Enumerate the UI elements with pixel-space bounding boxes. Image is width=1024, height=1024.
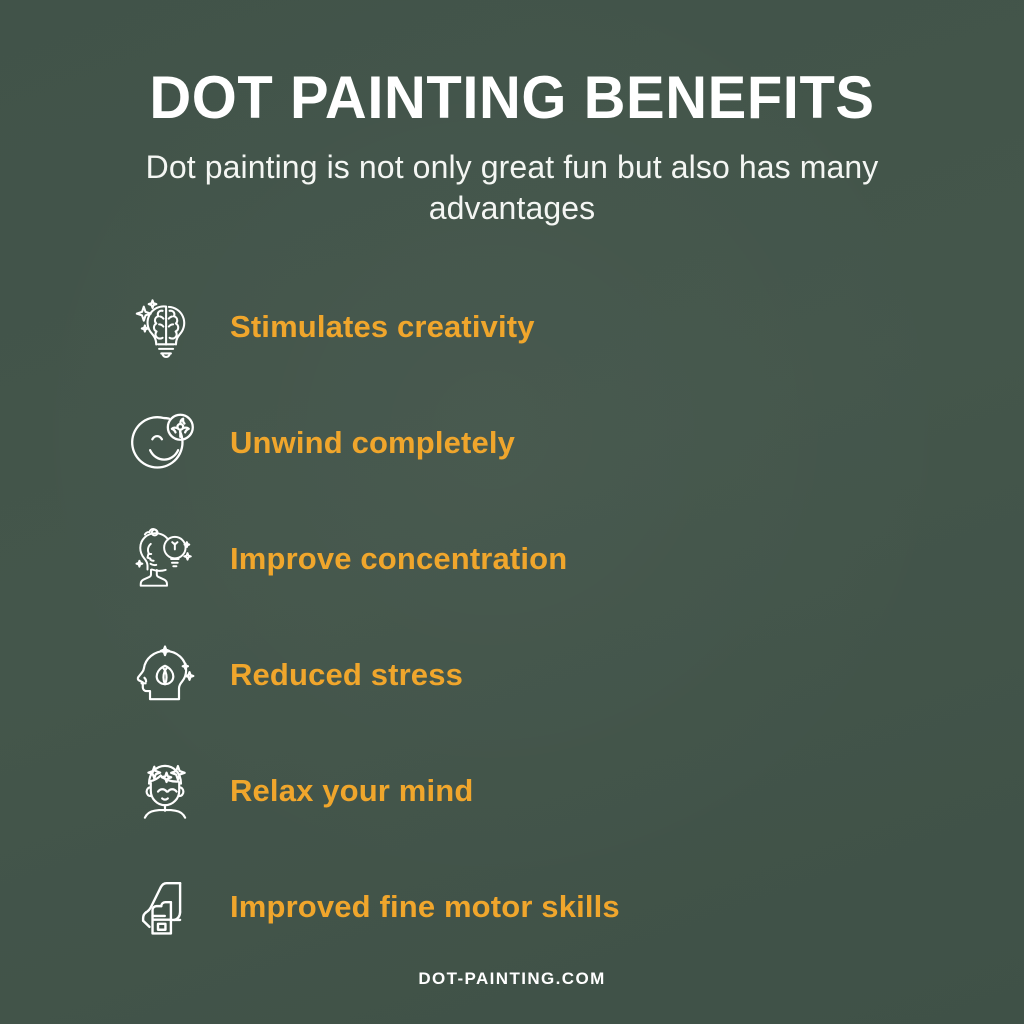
smiling-face-flower-icon <box>128 406 202 480</box>
benefit-label: Stimulates creativity <box>230 309 535 345</box>
list-item: Stimulates creativity <box>128 269 1024 385</box>
benefits-list: Stimulates creativity Unwind completely <box>0 269 1024 965</box>
benefit-label: Improve concentration <box>230 541 567 577</box>
benefit-label: Improved fine motor skills <box>230 889 620 925</box>
poster-canvas: DOT PAINTING BENEFITS Dot painting is no… <box>0 0 1024 1024</box>
list-item: Relax your mind <box>128 733 1024 849</box>
hand-holding-tool-icon <box>128 870 202 944</box>
brain-lightbulb-icon <box>128 290 202 364</box>
poster-header: DOT PAINTING BENEFITS Dot painting is no… <box>0 0 1024 229</box>
list-item: Improve concentration <box>128 501 1024 617</box>
list-item: Unwind completely <box>128 385 1024 501</box>
website-url: DOT-PAINTING.COM <box>418 969 605 988</box>
benefit-label: Reduced stress <box>230 657 463 693</box>
page-subtitle: Dot painting is not only great fun but a… <box>142 147 882 229</box>
list-item: Improved fine motor skills <box>128 849 1024 965</box>
head-lotus-icon <box>128 638 202 712</box>
footer: DOT-PAINTING.COM <box>0 969 1024 989</box>
benefit-label: Unwind completely <box>230 425 515 461</box>
benefit-label: Relax your mind <box>230 773 473 809</box>
list-item: Reduced stress <box>128 617 1024 733</box>
page-title: DOT PAINTING BENEFITS <box>18 66 1006 129</box>
woman-head-lightbulb-icon <box>128 522 202 596</box>
relaxed-face-sparkles-icon <box>128 754 202 828</box>
